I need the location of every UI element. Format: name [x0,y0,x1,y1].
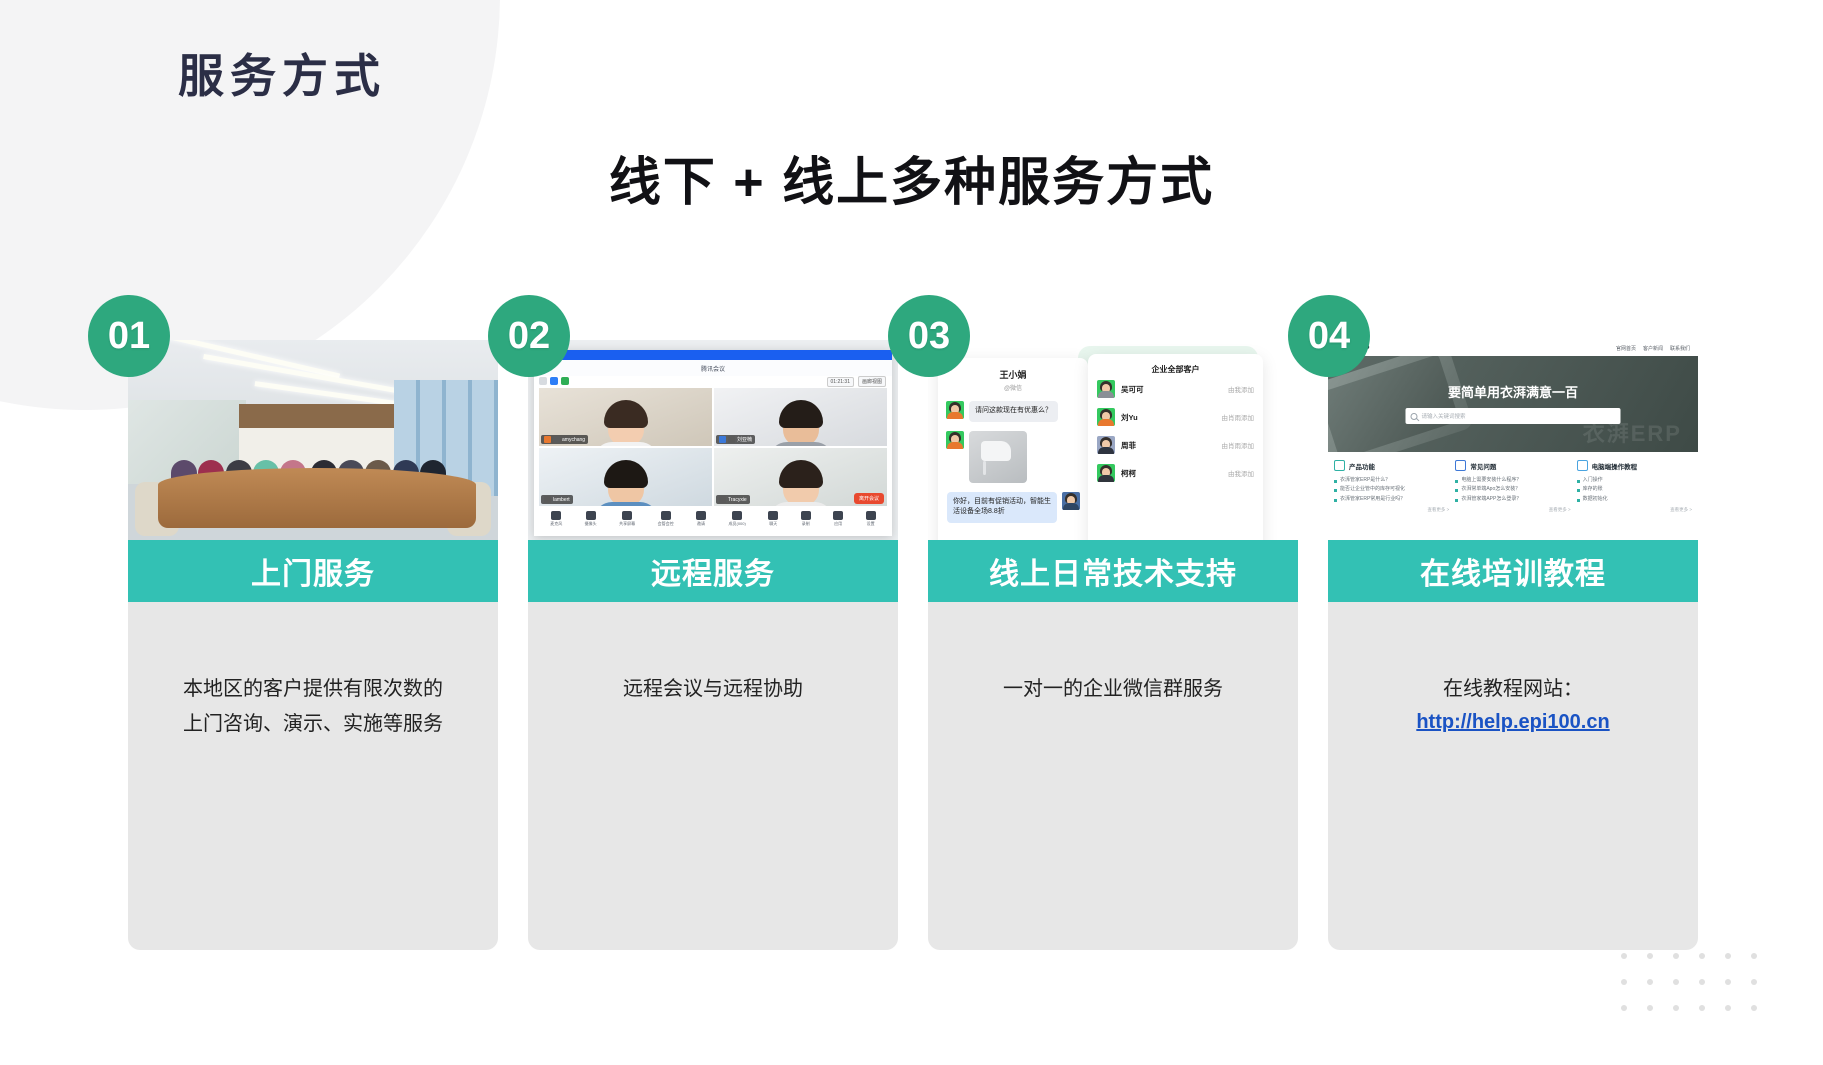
wechat-work-screenshot: 王小娟 @微信 请问这款现在有优惠么？ [928,340,1298,540]
card-desc-2-line1: 远程会议与远程协助 [623,672,803,707]
slide-root: 服务方式 线下 + 线上多种服务方式 01 [0,0,1823,1065]
message-image-attachment [969,431,1027,483]
help-column-features: 产品功能 衣湃管家ERP是什么？ 能否让企业管中的库存可视化 衣湃管家ERP常用… [1334,460,1449,513]
service-card-3[interactable]: 03 王小娟 @微信 请问这款现在有优惠么？ [928,340,1298,950]
headline: 线下 + 线上多种服务方式 [0,140,1823,215]
card-desc-4-line1: 在线教程网站： [1443,672,1583,707]
help-column-tutorial: 电脑端操作教程 入门操作 库存的账 数据初始化 查看更多 > [1577,460,1692,513]
card-number-badge-1: 01 [88,295,170,377]
decorative-dots [1621,953,1777,1031]
avatar [946,431,964,449]
card-media-2: 腾讯会议 01:21:31 画廊视图 正在讲话：amychang、lambe..… [528,340,898,540]
service-card-1[interactable]: 01 [128,340,498,950]
help-link[interactable]: 电脑上需要安装什么程序？ [1455,476,1570,485]
help-column-faq: 常见问题 电脑上需要安装什么程序？ 衣湃常单端Apo怎么安装？ 衣湃管家端APP… [1455,460,1570,513]
search-icon [1411,413,1418,420]
customer-list-panel: 企业全部客户 吴可可 由我添加 刘Yu 由肖雨添加 [1088,354,1263,540]
participant-nametag-4: Tracyxie [716,495,750,504]
tencent-meeting-window: 腾讯会议 01:21:31 画廊视图 正在讲话：amychang、lambe..… [534,350,892,536]
message-bubble: 请问这款现在有优惠么？ [969,401,1058,422]
help-columns: 产品功能 衣湃管家ERP是什么？ 能否让企业管中的库存可视化 衣湃管家ERP常用… [1328,452,1698,513]
contact-row[interactable]: 吴可可 由我添加 [1088,375,1263,403]
column-more-link[interactable]: 查看更多 > [1455,507,1570,513]
toolbar-apps[interactable]: 应用 [833,511,843,527]
contact-added-by: 由肖雨添加 [1222,412,1255,422]
contact-row[interactable]: 刘Yu 由肖雨添加 [1088,403,1263,431]
site-search-box[interactable]: 请输入关键词搜索 [1406,408,1621,424]
help-link[interactable]: 数据初始化 [1577,495,1692,504]
card-desc-3-line1: 一对一的企业微信群服务 [1003,672,1223,707]
chat-contact-source: @微信 [938,383,1088,392]
contact-row[interactable]: 柯柯 由我添加 [1088,459,1263,487]
help-link[interactable]: 衣湃管家端APP怎么登录？ [1455,495,1570,504]
help-link[interactable]: 衣湃常单端Apo怎么安装？ [1455,485,1570,494]
hero-headline: 要简单用衣湃满意一百 [1328,382,1698,401]
help-link[interactable]: 衣湃管家ERP是什么？ [1334,476,1449,485]
chat-message-3: 你好，目前有促销活动，智能生活设备全场8.8折 [938,492,1080,523]
card-number-badge-4: 04 [1288,295,1370,377]
search-placeholder: 请输入关键词搜索 [1422,412,1466,420]
card-body-3: 一对一的企业微信群服务 [928,602,1298,950]
leave-meeting-button[interactable]: 离开会议 [854,493,884,504]
toolbar-record[interactable]: 录制 [801,511,811,527]
column-more-link[interactable]: 查看更多 > [1334,507,1449,513]
meeting-title: 腾讯会议 [534,360,892,376]
participant-tile-2: 刘亚楠 [714,388,887,446]
chat-message-1: 请问这款现在有优惠么？ [946,401,1088,422]
toolbar-invite[interactable]: 邀请 [696,511,706,527]
meeting-timer: 01:21:31 [827,377,854,387]
meeting-toolbar[interactable]: 麦克风 摄像头 共享屏幕 会管会控 邀请 成员(000) 聊天 录制 应用 设置 [539,506,887,532]
tutorial-site-link[interactable]: http://help.epi100.cn [1416,711,1609,734]
participant-nametag-1: amychang [541,435,588,444]
contact-name: 周菲 [1121,440,1216,451]
toolbar-mic[interactable]: 麦克风 [550,511,562,527]
contact-name: 刘Yu [1121,412,1216,423]
help-link[interactable]: 库存的账 [1577,485,1692,494]
help-link[interactable]: 入门操作 [1577,476,1692,485]
avatar [1097,436,1115,454]
toolbar-manage[interactable]: 会管会控 [658,511,674,527]
contact-added-by: 由肖雨添加 [1222,440,1255,450]
nav-item-news[interactable]: 客户新闻 [1643,345,1663,352]
customer-list-title: 企业全部客户 [1088,364,1263,375]
contact-row[interactable]: 周菲 由肖雨添加 [1088,431,1263,459]
wechat-chat-panel: 王小娟 @微信 请问这款现在有优惠么？ [938,358,1088,540]
contact-name: 柯柯 [1121,468,1222,479]
chat-contact-name: 王小娟 [938,368,1088,381]
avatar [1062,492,1080,510]
site-nav[interactable]: 官网首页 客户新闻 联系我们 [1328,340,1698,356]
toolbar-camera[interactable]: 摄像头 [585,511,597,527]
card-banner-3: 线上日常技术支持 [928,540,1298,602]
card-desc-1-line1: 本地区的客户提供有限次数的 [183,672,443,707]
meeting-view-mode[interactable]: 画廊视图 [858,376,886,387]
card-media-1 [128,340,498,540]
site-hero: 衣湃ERP 要简单用衣湃满意一百 请输入关键词搜索 [1328,356,1698,452]
help-website-screenshot: 衣湃ERP EPI 100 官网首页 客户新闻 联系我们 衣湃ERP 要简单用衣… [1328,340,1698,540]
nav-item-home[interactable]: 官网首页 [1616,345,1636,352]
participant-nametag-2: 刘亚楠 [716,435,755,444]
toolbar-share-screen[interactable]: 共享屏幕 [619,511,635,527]
participant-tile-3: lambert [539,448,712,506]
card-media-3: 王小娟 @微信 请问这款现在有优惠么？ [928,340,1298,540]
card-media-4: 衣湃ERP EPI 100 官网首页 客户新闻 联系我们 衣湃ERP 要简单用衣… [1328,340,1698,540]
card-number-badge-3: 03 [888,295,970,377]
help-link[interactable]: 能否让企业管中的库存可视化 [1334,485,1449,494]
meeting-tools [539,377,569,385]
card-banner-1: 上门服务 [128,540,498,602]
toolbar-settings[interactable]: 设置 [866,511,876,527]
page-title: 服务方式 [178,40,386,106]
service-card-2[interactable]: 02 腾讯会议 01:21:31 画廊视图 正在讲话：amychang、lamb… [528,340,898,950]
chat-message-2 [946,431,1088,483]
monitor-icon [1577,460,1588,471]
contact-added-by: 由我添加 [1228,384,1254,394]
avatar [1097,408,1115,426]
avatar [1097,464,1115,482]
contact-added-by: 由我添加 [1228,468,1254,478]
toolbar-chat[interactable]: 聊天 [768,511,778,527]
window-topbar [534,350,892,360]
meeting-meta: 01:21:31 画廊视图 [827,376,886,387]
card-banner-4: 在线培训教程 [1328,540,1698,602]
list-icon [1334,460,1345,471]
avatar [1097,380,1115,398]
card-body-1: 本地区的客户提供有限次数的 上门咨询、演示、实施等服务 [128,602,498,950]
participant-nametag-3: lambert [541,495,573,504]
card-banner-2: 远程服务 [528,540,898,602]
nav-item-contact[interactable]: 联系我们 [1670,345,1690,352]
card-body-2: 远程会议与远程协助 [528,602,898,950]
service-card-4[interactable]: 04 衣湃ERP EPI 100 官网首页 客户新闻 联系我们 衣湃ERP [1328,340,1698,950]
contact-name: 吴可可 [1121,384,1222,395]
column-more-link[interactable]: 查看更多 > [1577,507,1692,513]
participant-tile-1: amychang [539,388,712,446]
card-number-badge-2: 02 [488,295,570,377]
help-link[interactable]: 衣湃管家ERP常用是行业吗？ [1334,495,1449,504]
participant-grid: amychang 刘亚楠 [539,388,887,506]
toolbar-members[interactable]: 成员(000) [728,511,745,527]
card-desc-1-line2: 上门咨询、演示、实施等服务 [183,707,443,742]
conference-room-image [128,340,498,540]
column-title: 常见问题 [1470,461,1496,471]
question-icon [1455,460,1466,471]
message-bubble: 你好，目前有促销活动，智能生活设备全场8.8折 [947,492,1057,523]
card-body-4: 在线教程网站： http://help.epi100.cn [1328,602,1698,950]
avatar [946,401,964,419]
column-title: 产品功能 [1349,461,1375,471]
cards-row: 01 [128,340,1698,950]
column-title: 电脑端操作教程 [1592,461,1638,471]
